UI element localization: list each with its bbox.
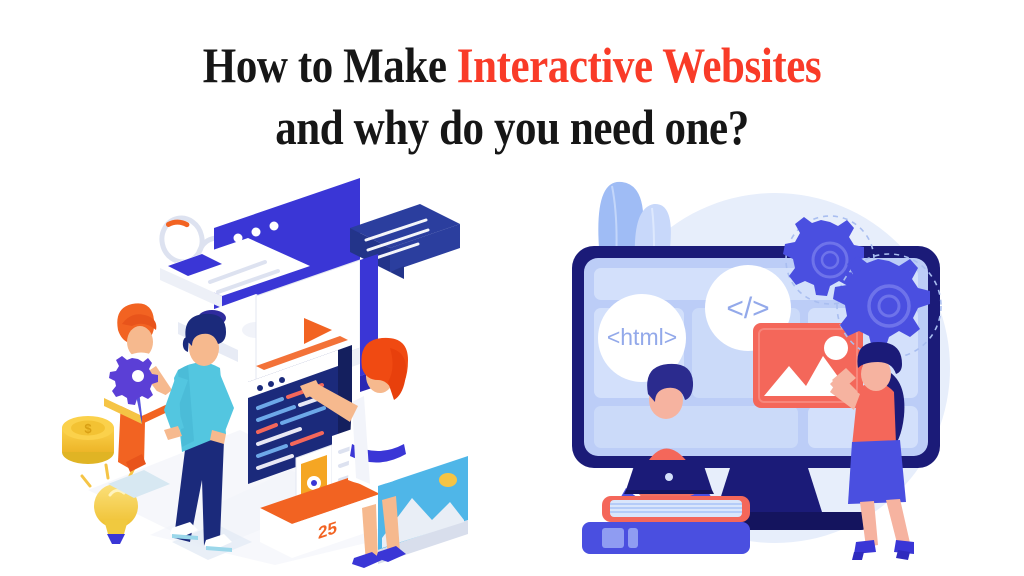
right-illustration: <html> </> xyxy=(540,178,970,568)
html-tag-bubble-label: <html> xyxy=(607,324,677,350)
page-title: How to Make Interactive Websites and why… xyxy=(0,34,1024,158)
title-line-1-prefix: How to Make xyxy=(203,37,457,93)
slide-canvas: How to Make Interactive Websites and why… xyxy=(0,0,1024,576)
coin-stack: $ xyxy=(62,416,114,464)
title-line-1-accent: Interactive Websites xyxy=(457,37,821,93)
title-line-2: and why do you need one? xyxy=(72,96,953,158)
left-illustration: $ xyxy=(60,190,500,570)
coin-dollar-label: $ xyxy=(84,421,92,436)
code-tag-bubble-label: </> xyxy=(726,292,769,325)
left-illustration-svg: $ xyxy=(60,190,500,570)
right-illustration-svg: <html> </> xyxy=(540,178,970,568)
title-line-1: How to Make Interactive Websites xyxy=(72,34,953,96)
book-stack-top xyxy=(602,496,750,522)
book-stack-bottom xyxy=(582,522,750,554)
